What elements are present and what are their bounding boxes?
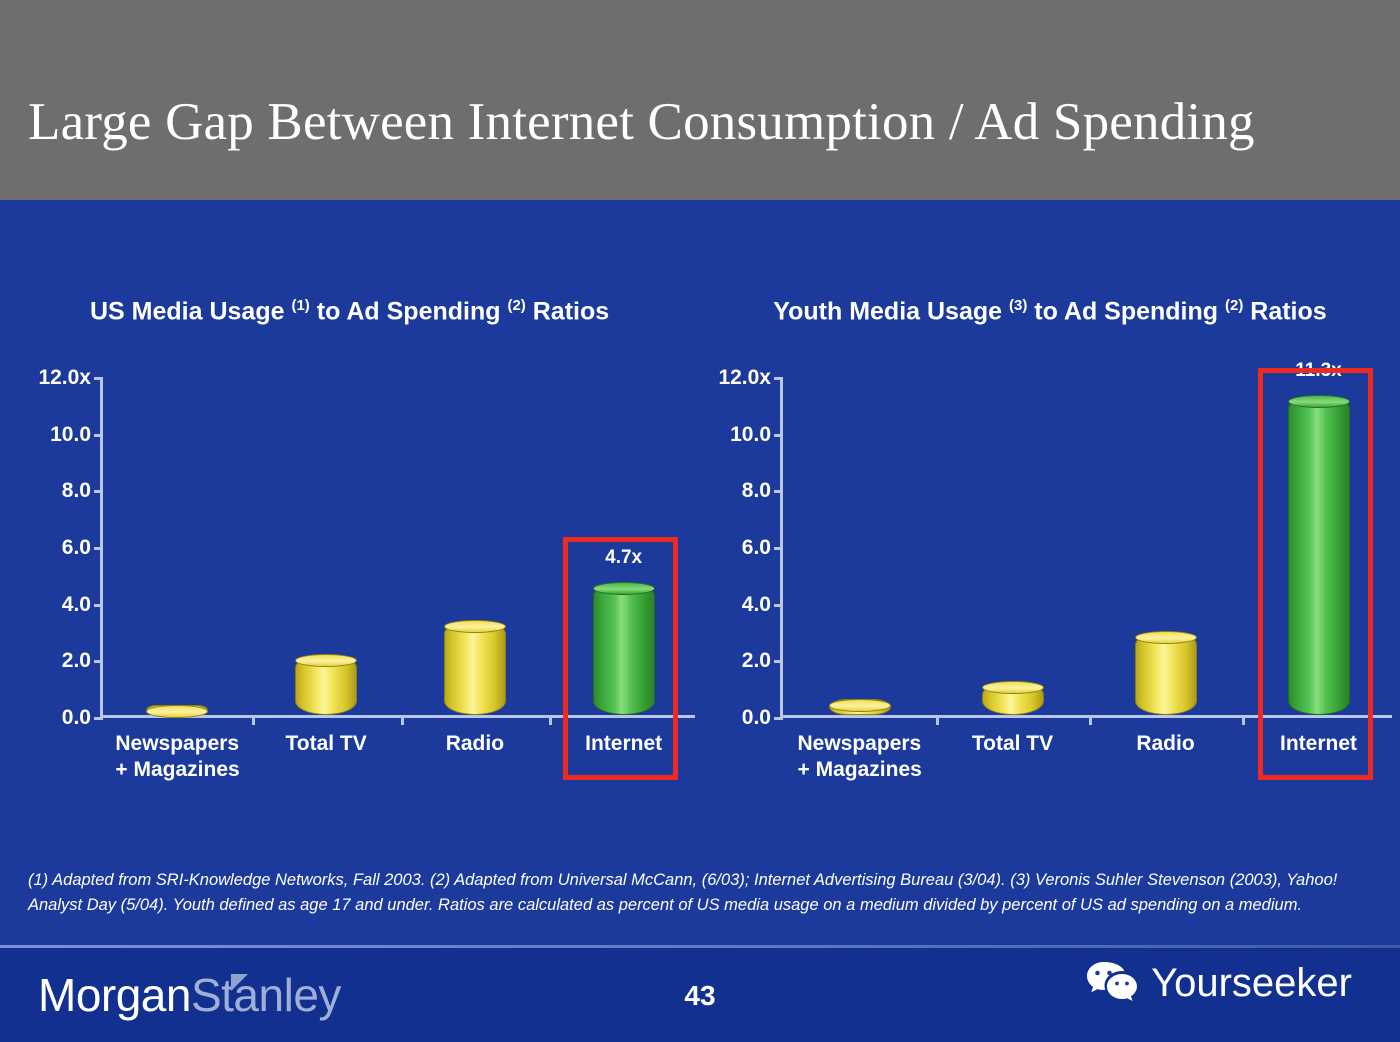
chart-title-us-media-usage: US Media Usage (1) to Ad Spending (2) Ra… <box>0 288 700 329</box>
x-axis-category-label: Radio <box>1089 731 1242 757</box>
y-axis-tick-mark <box>94 434 103 437</box>
y-axis-tick-label: 6.0 <box>742 536 771 560</box>
y-axis-tick-mark <box>94 660 103 663</box>
bar-top-cap <box>829 699 891 712</box>
y-axis-tick-label: 12.0x <box>38 366 91 390</box>
chart-title-part-c: Ratios <box>526 297 609 325</box>
bar-top-cap <box>444 620 506 633</box>
category-label-line: + Magazines <box>115 757 251 783</box>
x-axis-category-label: Total TV <box>252 731 401 757</box>
footnote-ref-3: (3) <box>1009 297 1027 314</box>
footnote-ref-2: (2) <box>1225 297 1243 314</box>
bar-top-cap <box>295 654 357 667</box>
y-axis-tick-mark <box>94 604 103 607</box>
x-axis-category-label: Internet <box>549 731 698 757</box>
category-label-line: Internet <box>1242 731 1395 757</box>
category-label-line: Newspapers <box>115 731 251 757</box>
y-axis-tick-label: 2.0 <box>62 649 91 673</box>
yourseeker-watermark: Yourseeker <box>1085 960 1352 1006</box>
y-axis-tick-mark <box>774 377 783 380</box>
bar-top-cap <box>1135 631 1197 644</box>
y-axis-tick-mark <box>774 604 783 607</box>
y-axis-tick-label: 10.0 <box>730 423 771 447</box>
chart-panel-youth-media-usage: Youth Media Usage (3) to Ad Spending (2)… <box>700 200 1400 845</box>
x-axis-tick-mark <box>549 715 552 725</box>
y-axis-tick-mark <box>94 547 103 550</box>
x-axis-category-label: Total TV <box>936 731 1089 757</box>
chart-title-part-c: Ratios <box>1243 297 1326 325</box>
plot-area-us-media-usage: 12.0x10.08.06.04.02.00.0Newspapers+ Maga… <box>100 378 695 718</box>
bar-internet: 11.3x <box>1288 395 1350 715</box>
category-label-line: Radio <box>1089 731 1242 757</box>
chart-title-part-b: to Ad Spending <box>310 297 508 325</box>
slide: Large Gap Between Internet Consumption /… <box>0 0 1400 1042</box>
chart-title-youth-media-usage: Youth Media Usage (3) to Ad Spending (2)… <box>700 288 1400 329</box>
y-axis-tick-label: 4.0 <box>742 593 771 617</box>
category-label-line: Internet <box>549 731 698 757</box>
x-axis-category-label: Newspapers+ Magazines <box>103 731 252 783</box>
y-axis-tick-mark <box>774 434 783 437</box>
page-title: Large Gap Between Internet Consumption /… <box>28 92 1255 152</box>
charts-container: US Media Usage (1) to Ad Spending (2) Ra… <box>0 200 1400 845</box>
y-axis-tick-mark <box>94 717 103 720</box>
category-label-line: Radio <box>401 731 550 757</box>
x-axis-tick-mark <box>252 715 255 725</box>
footnote-text: (1) Adapted from SRI-Knowledge Networks,… <box>28 868 1372 918</box>
y-axis-tick-label: 8.0 <box>742 479 771 503</box>
bar-top-cap <box>982 681 1044 694</box>
x-axis-tick-mark <box>936 715 939 725</box>
category-label-line: + Magazines <box>798 757 937 783</box>
y-axis-tick-label: 4.0 <box>62 593 91 617</box>
bar-value-label: 11.3x <box>1295 360 1342 382</box>
category-label-line: Total TV <box>936 731 1089 757</box>
x-axis-tick-mark <box>1089 715 1092 725</box>
x-axis-tick-mark <box>1242 715 1245 725</box>
chart-title-part-a: US Media Usage <box>90 297 291 325</box>
bar-radio <box>444 620 506 715</box>
x-axis-tick-mark <box>401 715 404 725</box>
slide-header: Large Gap Between Internet Consumption /… <box>0 0 1400 200</box>
x-axis-category-label: Internet <box>1242 731 1395 757</box>
bar-total-tv <box>295 654 357 715</box>
y-axis-tick-label: 10.0 <box>50 423 91 447</box>
wechat-icon <box>1085 960 1139 1006</box>
yourseeker-label: Yourseeker <box>1151 961 1352 1006</box>
bar-top-cap <box>593 582 655 595</box>
y-axis-tick-label: 0.0 <box>62 706 91 730</box>
y-axis-tick-mark <box>94 490 103 493</box>
y-axis-tick-mark <box>774 490 783 493</box>
x-axis-category-label: Newspapers+ Magazines <box>783 731 936 783</box>
y-axis-tick-mark <box>774 547 783 550</box>
footnote-ref-2: (2) <box>507 297 525 314</box>
y-axis-tick-label: 8.0 <box>62 479 91 503</box>
bar-value-label: 4.7x <box>605 547 642 569</box>
bar-internet: 4.7x <box>593 582 655 715</box>
y-axis-tick-label: 12.0x <box>718 366 771 390</box>
y-axis-tick-label: 6.0 <box>62 536 91 560</box>
chart-title-part-b: to Ad Spending <box>1027 297 1225 325</box>
bar-newspapers---magazines <box>146 705 208 715</box>
y-axis-tick-mark <box>774 660 783 663</box>
bar-top-cap <box>1288 395 1350 408</box>
plot-area-youth-media-usage: 12.0x10.08.06.04.02.00.0Newspapers+ Maga… <box>780 378 1392 718</box>
y-axis-tick-mark <box>94 377 103 380</box>
bar-radio <box>1135 631 1197 715</box>
y-axis-tick-label: 2.0 <box>742 649 771 673</box>
y-axis-tick-label: 0.0 <box>742 706 771 730</box>
chart-title-part-a: Youth Media Usage <box>773 297 1009 325</box>
bar-total-tv <box>982 681 1044 715</box>
category-label-line: Newspapers <box>798 731 937 757</box>
chart-panel-us-media-usage: US Media Usage (1) to Ad Spending (2) Ra… <box>0 200 700 845</box>
bar-newspapers---magazines <box>829 699 891 715</box>
footnote-ref-1: (1) <box>291 297 309 314</box>
bar-top-cap <box>146 705 208 718</box>
slide-footer: MorganStanley 43 Yourseeker <box>0 948 1400 1042</box>
x-axis-category-label: Radio <box>401 731 550 757</box>
y-axis-tick-mark <box>774 717 783 720</box>
category-label-line: Total TV <box>252 731 401 757</box>
